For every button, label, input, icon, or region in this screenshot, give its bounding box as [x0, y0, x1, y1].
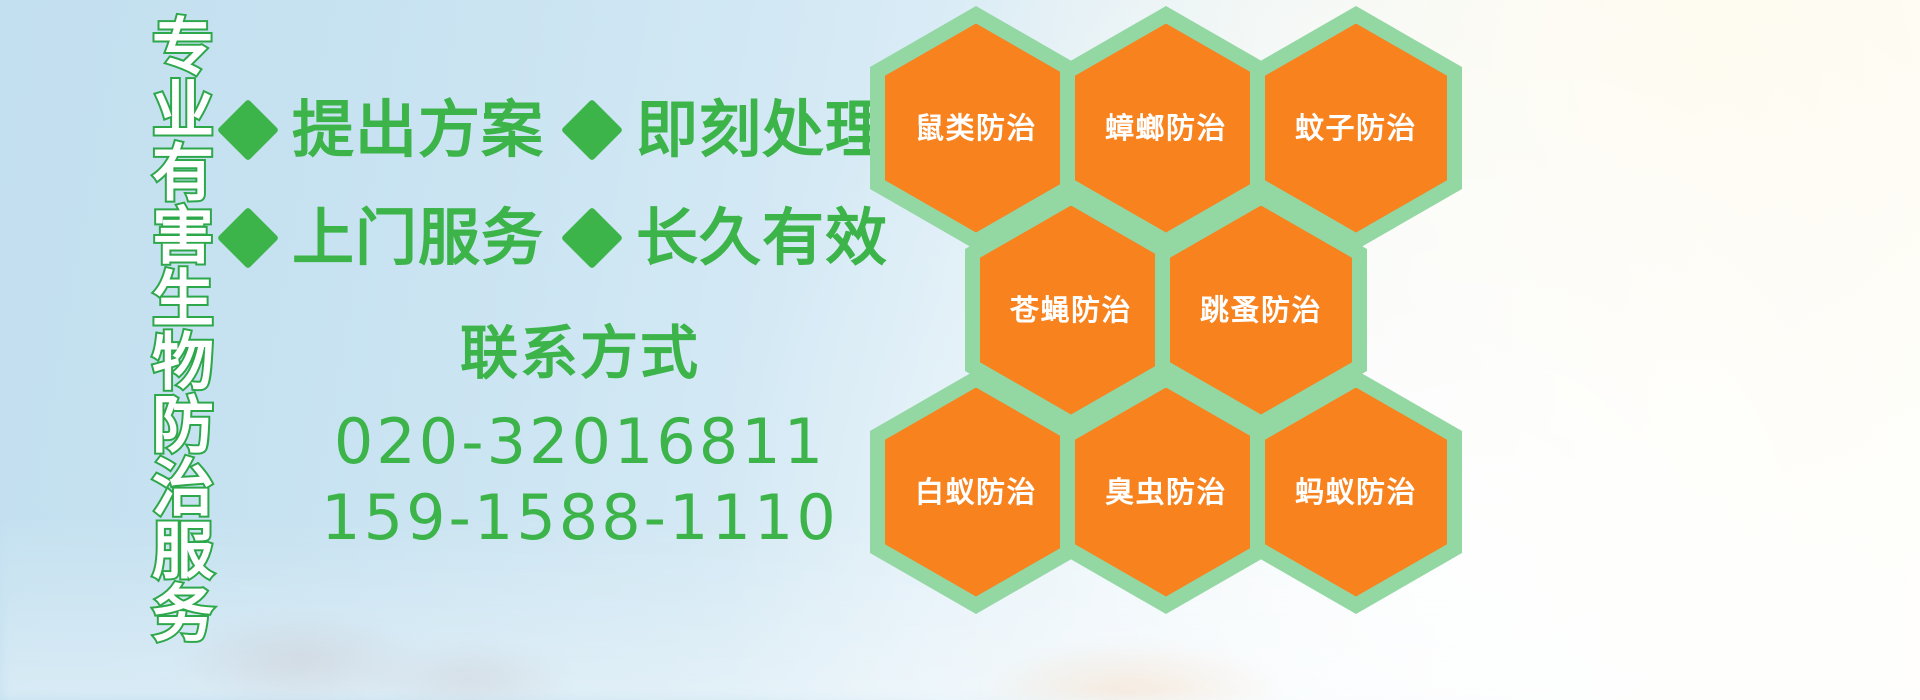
- feature-item: 上门服务: [226, 207, 544, 269]
- feature-item: 长久有效: [570, 207, 888, 269]
- contact-phone-landline[interactable]: 020-32016811: [300, 404, 860, 480]
- hex-label: 蚂蚁防治: [1295, 476, 1417, 508]
- hex-inner: 蚂蚁防治: [1265, 388, 1447, 597]
- hex-label: 白蚁防治: [915, 476, 1037, 508]
- feature-row: 上门服务 长久有效: [226, 184, 866, 292]
- service-honeycomb: 鼠类防治 蟑螂防治 蚊子防治 苍蝇防治 跳蚤防治 白蚁防治: [862, 0, 1462, 700]
- diamond-bullet-icon: [561, 207, 623, 269]
- diamond-bullet-icon: [217, 99, 279, 161]
- hex-inner: 臭虫防治: [1075, 388, 1257, 597]
- diamond-bullet-icon: [561, 99, 623, 161]
- feature-label: 即刻处理: [636, 99, 888, 161]
- hex-inner: 蟑螂防治: [1075, 24, 1257, 233]
- hex-inner: 蚊子防治: [1265, 24, 1447, 233]
- hex-inner: 跳蚤防治: [1170, 206, 1352, 415]
- feature-item: 即刻处理: [570, 99, 888, 161]
- contact-title: 联系方式: [300, 316, 860, 390]
- hex-label: 跳蚤防治: [1200, 294, 1322, 326]
- hex-label: 鼠类防治: [915, 112, 1037, 144]
- hex-label: 苍蝇防治: [1010, 294, 1132, 326]
- vertical-headline: 专业有害生物防治服务: [104, 14, 208, 644]
- diamond-bullet-icon: [217, 207, 279, 269]
- hex-inner: 苍蝇防治: [980, 206, 1162, 415]
- hex-label: 臭虫防治: [1105, 476, 1227, 508]
- hex-inner: 白蚁防治: [885, 388, 1067, 597]
- hex-label: 蟑螂防治: [1105, 112, 1227, 144]
- feature-label: 长久有效: [636, 207, 888, 269]
- promo-banner: 专业有害生物防治服务 提出方案 即刻处理 上门服务 长久有效 联系方式: [0, 0, 1920, 700]
- feature-row: 提出方案 即刻处理: [226, 76, 866, 184]
- feature-list: 提出方案 即刻处理 上门服务 长久有效: [226, 76, 866, 292]
- hex-inner: 鼠类防治: [885, 24, 1067, 233]
- contact-phone-mobile[interactable]: 159-1588-1110: [300, 480, 860, 556]
- hex-label: 蚊子防治: [1295, 112, 1417, 144]
- feature-label: 上门服务: [292, 207, 544, 269]
- feature-item: 提出方案: [226, 99, 544, 161]
- contact-block: 联系方式 020-32016811 159-1588-1110: [300, 316, 860, 556]
- feature-label: 提出方案: [292, 99, 544, 161]
